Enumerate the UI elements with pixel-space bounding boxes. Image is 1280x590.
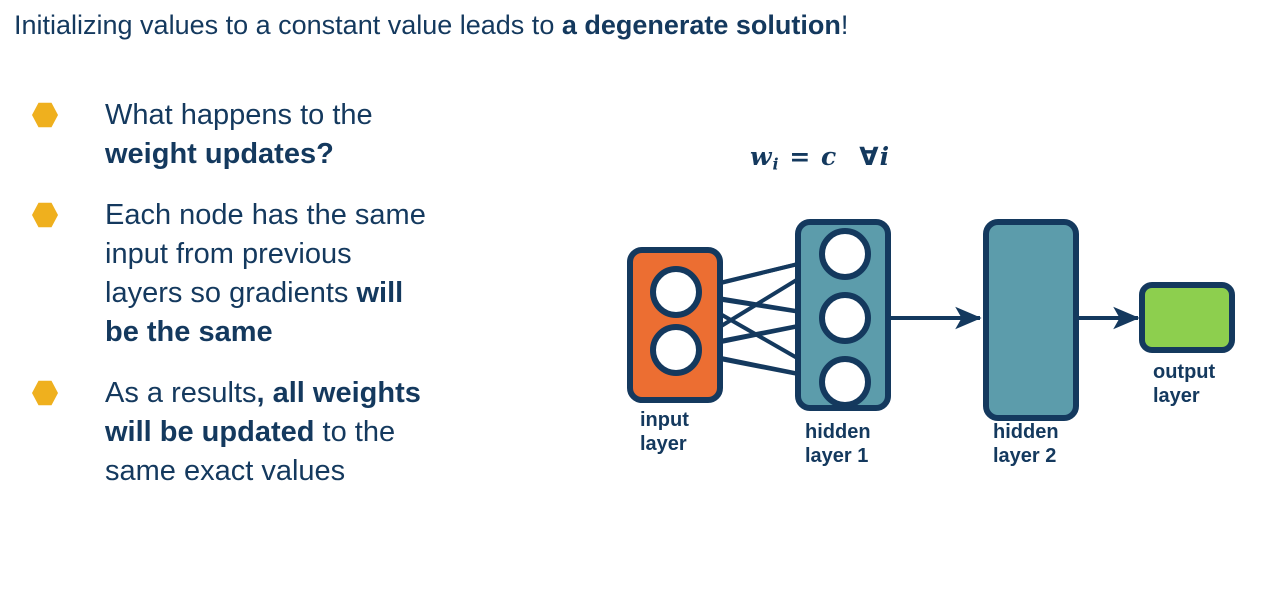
hexagon-bullet-icon [32,202,58,228]
input-node-1 [653,269,699,315]
hexagon-bullet-icon [32,102,58,128]
hidden-layer-2-label: hidden layer 2 [993,420,1059,468]
bullet-1-part-0: What happens to the [105,99,373,131]
hidden1-node-3 [822,359,868,405]
bullet-text: What happens to the weight updates? [105,96,435,174]
output-layer-box [1142,285,1232,350]
title-emphasis: a degenerate solution [562,10,841,40]
input-layer-label: input layer [640,408,689,456]
network-graphic [600,120,1280,520]
output-layer-label: output layer [1153,360,1215,408]
bullet-3-part-0: As a results [105,377,257,409]
page-title: Initializing values to a constant value … [14,8,1264,42]
bullet-text: Each node has the same input from previo… [105,196,435,352]
hidden-layer-1-label: hidden layer 1 [805,420,871,468]
bullet-text: As a results, all weights will be update… [105,374,435,491]
list-item: What happens to the weight updates? [0,96,600,174]
bullet-list: What happens to the weight updates? Each… [0,96,600,513]
list-item: As a results, all weights will be update… [0,374,600,491]
hidden1-node-1 [822,231,868,277]
hidden1-node-2 [822,295,868,341]
input-node-2 [653,327,699,373]
hidden-layer-2-box [986,222,1076,418]
title-suffix: ! [841,10,849,40]
bullet-1-part-1: weight updates? [105,138,334,170]
list-item: Each node has the same input from previo… [0,196,600,352]
hexagon-bullet-icon [32,380,58,406]
neural-network-diagram: wi = c∀i [600,120,1280,520]
title-prefix: Initializing values to a constant value … [14,10,562,40]
